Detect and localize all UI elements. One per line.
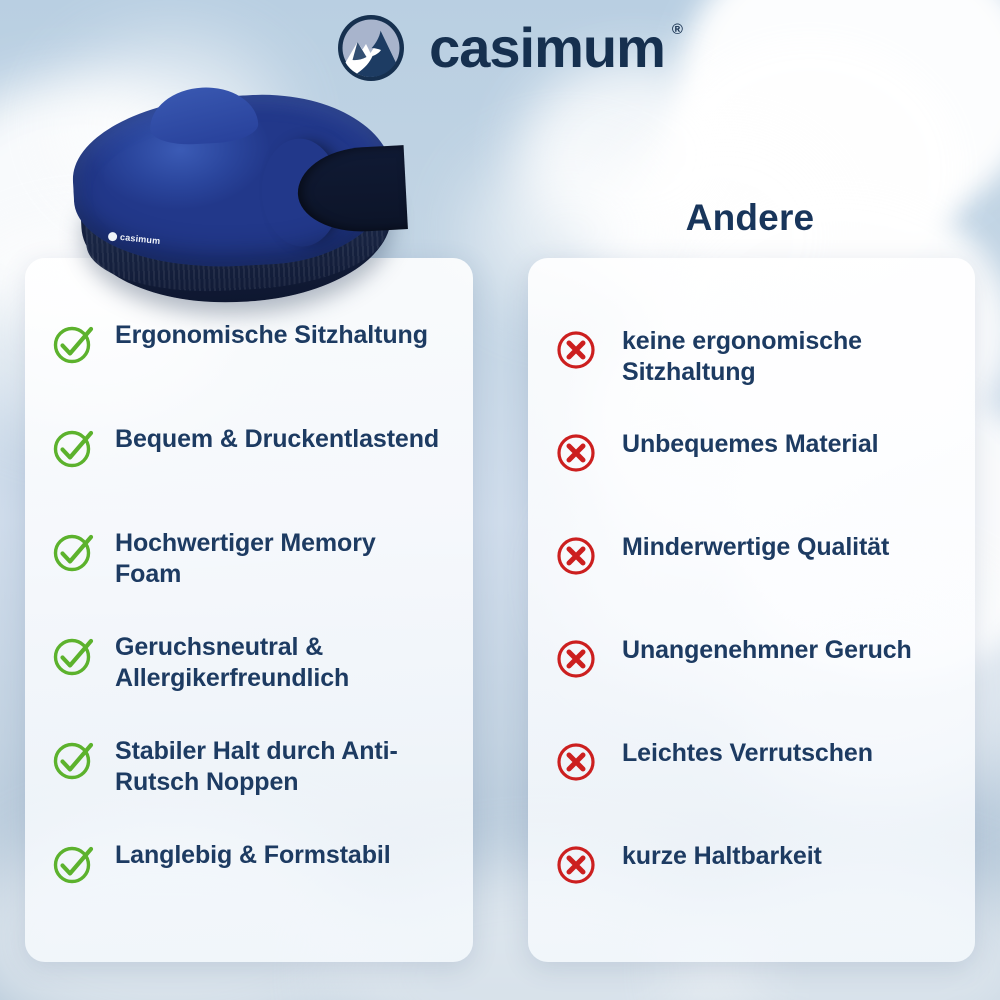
check-circle-icon (51, 530, 95, 574)
cushion-front-lobe (148, 85, 259, 147)
list-item-label: Geruchsneutral & Allergikerfreundlich (115, 630, 443, 694)
list-item-label: kurze Haltbarkeit (622, 839, 822, 872)
cross-circle-icon (554, 637, 598, 681)
list-item: Hochwertiger Memory Foam (51, 526, 447, 630)
cross-circle-icon (554, 328, 598, 372)
list-item-label: Langlebig & Formstabil (115, 838, 391, 871)
list-item-label: Leichtes Verrutschen (622, 736, 873, 769)
cross-circle-icon (554, 534, 598, 578)
list-item: Ergonomische Sitzhaltung (51, 318, 447, 422)
list-item: Leichtes Verrutschen (554, 736, 949, 839)
cross-circle-icon (554, 843, 598, 887)
list-item: Bequem & Druckentlastend (51, 422, 447, 526)
cross-circle-icon (554, 431, 598, 475)
cross-circle-icon (554, 740, 598, 784)
list-item-label: Unbequemes Material (622, 427, 879, 460)
comparison-card-casimum: Ergonomische Sitzhaltung Bequem & Drucke… (25, 258, 473, 962)
brand-header: casimum ® (0, 12, 1000, 84)
benefit-list: Ergonomische Sitzhaltung Bequem & Drucke… (51, 314, 447, 942)
list-item: kurze Haltbarkeit (554, 839, 949, 942)
check-circle-icon (51, 738, 95, 782)
registered-mark: ® (672, 22, 682, 37)
list-item: keine ergonomische Sitzhaltung (554, 324, 949, 427)
list-item-label: Ergonomische Sitzhaltung (115, 318, 428, 351)
list-item: Langlebig & Formstabil (51, 838, 447, 942)
list-item-label: Minderwertige Qualität (622, 530, 889, 563)
drawback-list: keine ergonomische Sitzhaltung Unbequeme… (554, 314, 949, 942)
check-circle-icon (51, 842, 95, 886)
list-item-label: Bequem & Druckentlastend (115, 422, 439, 455)
column-title-andere: Andere (528, 197, 972, 239)
list-item: Unangenehmner Geruch (554, 633, 949, 736)
list-item-label: keine ergonomische Sitzhaltung (622, 324, 945, 388)
list-item-label: Stabiler Halt durch Anti-Rutsch Noppen (115, 734, 443, 798)
comparison-card-andere: keine ergonomische Sitzhaltung Unbequeme… (528, 258, 975, 962)
mountain-circle-logo-icon (335, 12, 407, 84)
brand-wordmark-text: casimum (429, 16, 665, 79)
list-item-label: Unangenehmner Geruch (622, 633, 912, 666)
brand-wordmark: casimum ® (429, 20, 665, 76)
product-image-seat-cushion: casimum (56, 69, 416, 325)
check-circle-icon (51, 426, 95, 470)
list-item: Stabiler Halt durch Anti-Rutsch Noppen (51, 734, 447, 838)
check-circle-icon (51, 322, 95, 366)
check-circle-icon (51, 634, 95, 678)
list-item: Minderwertige Qualität (554, 530, 949, 633)
list-item: Geruchsneutral & Allergikerfreundlich (51, 630, 447, 734)
tag-logo-icon (108, 231, 118, 241)
infographic-canvas: casimum ® casimum Andere (0, 0, 1000, 1000)
list-item: Unbequemes Material (554, 427, 949, 530)
list-item-label: Hochwertiger Memory Foam (115, 526, 443, 590)
